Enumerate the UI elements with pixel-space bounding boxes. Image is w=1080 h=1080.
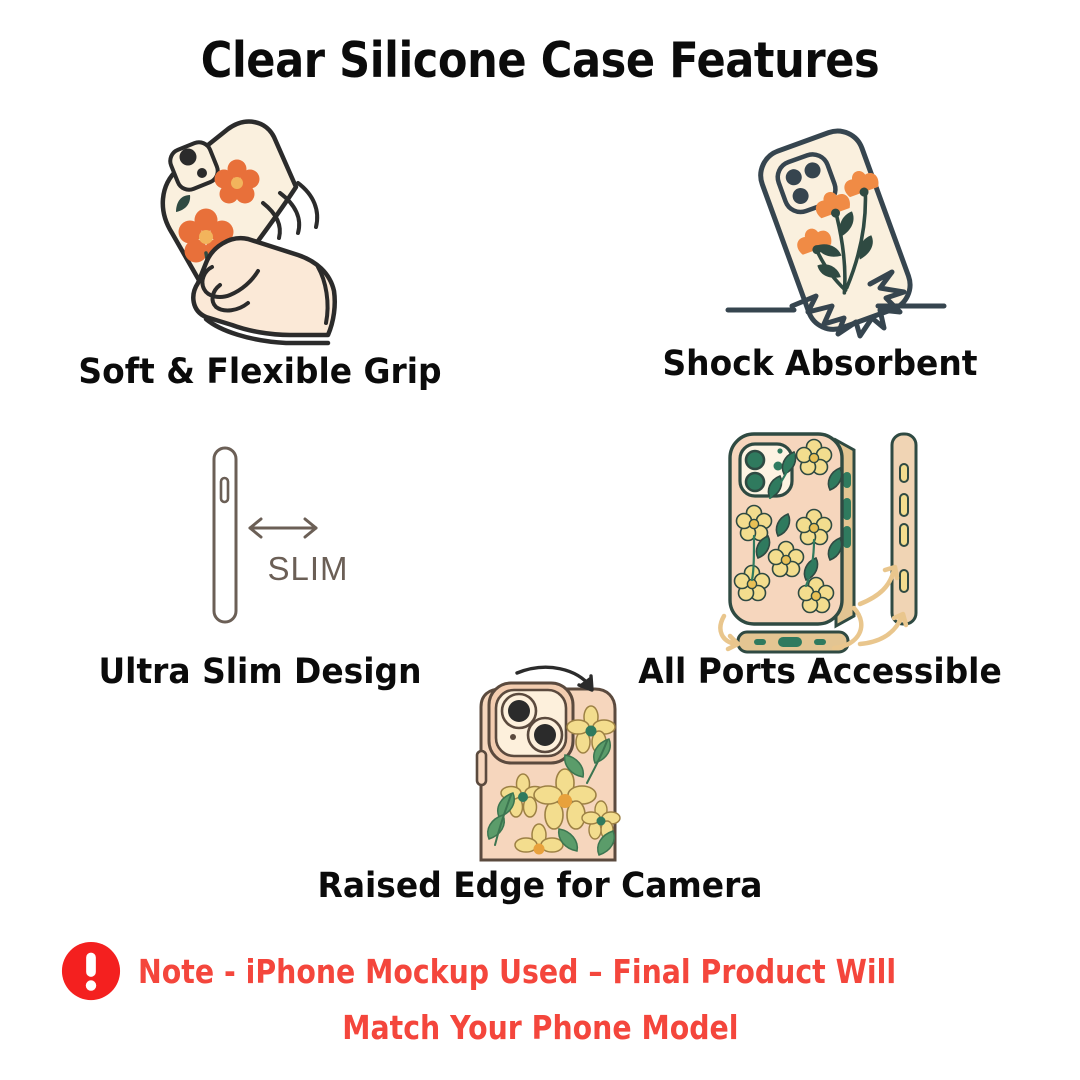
note-text-line-1: Note - iPhone Mockup Used – Final Produc… (138, 952, 896, 991)
feature-all-ports-accessible (710, 420, 940, 655)
feature-shock-absorbent (720, 120, 950, 340)
camera-bump-closeup-icon (455, 665, 630, 860)
slim-caption: SLIM (248, 550, 368, 588)
hand-holding-flexible-case-icon (120, 115, 380, 350)
feature-label-shock-absorbent: Shock Absorbent (576, 344, 1065, 384)
phone-side-profile-slim-icon (200, 440, 350, 630)
page-title: Clear Silicone Case Features (65, 32, 1015, 89)
phone-drop-impact-icon (720, 120, 950, 340)
feature-ultra-slim-design: SLIM (200, 440, 350, 630)
feature-label-all-ports-accessible: All Ports Accessible (576, 652, 1065, 692)
note-text-line-2: Match Your Phone Model (342, 1008, 738, 1047)
feature-soft-flexible-grip (120, 115, 380, 350)
infographic-page: Clear Silicone Case Features (0, 0, 1080, 1080)
feature-label-raised-edge-for-camera: Raised Edge for Camera (296, 866, 785, 906)
note-line-1: Note - iPhone Mockup Used – Final Produc… (60, 940, 1020, 1002)
feature-label-soft-flexible-grip: Soft & Flexible Grip (16, 352, 505, 392)
feature-raised-edge-for-camera (455, 665, 630, 860)
note-line-2: Match Your Phone Model (0, 1002, 1080, 1047)
feature-label-ultra-slim-design: Ultra Slim Design (16, 652, 505, 692)
note-row: Note - iPhone Mockup Used – Final Produc… (0, 940, 1080, 1047)
phone-ports-cutouts-icon (710, 420, 940, 655)
exclamation-circle-icon (60, 940, 122, 1002)
